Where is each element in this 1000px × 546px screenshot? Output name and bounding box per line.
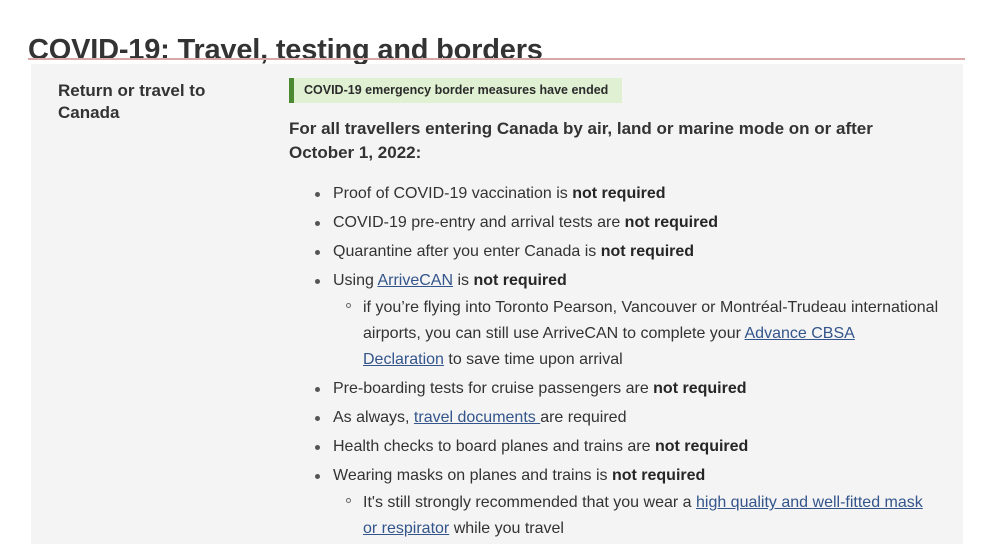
body-text: are required	[540, 409, 626, 426]
page-title: COVID-19: Travel, testing and borders	[28, 35, 543, 67]
list-item-text: Quarantine after you enter Canada is not…	[333, 240, 939, 265]
content-column: COVID-19 emergency border measures have …	[289, 78, 939, 546]
list-item: As always, travel documents are required	[333, 406, 939, 431]
list-item-text: COVID-19 pre-entry and arrival tests are…	[333, 211, 939, 236]
body-text: Wearing masks on planes and trains is	[333, 467, 612, 484]
page-root: COVID-19: Travel, testing and borders Re…	[0, 0, 1000, 544]
inline-link[interactable]: travel documents	[414, 409, 540, 426]
body-text: Quarantine after you enter Canada is	[333, 243, 601, 260]
requirements-list: Proof of COVID-19 vaccination is not req…	[289, 182, 939, 542]
emphasis-text: not required	[473, 272, 566, 289]
inline-link[interactable]: ArriveCAN	[377, 272, 453, 289]
body-text: COVID-19 pre-entry and arrival tests are	[333, 214, 625, 231]
sub-list-item: It's still strongly recommended that you…	[363, 490, 939, 542]
lead-paragraph: For all travellers entering Canada by ai…	[289, 117, 939, 165]
status-banner: COVID-19 emergency border measures have …	[289, 78, 622, 103]
list-item: Proof of COVID-19 vaccination is not req…	[333, 182, 939, 207]
emphasis-text: not required	[653, 380, 746, 397]
emphasis-text: not required	[572, 185, 665, 202]
list-item: Wearing masks on planes and trains is no…	[333, 464, 939, 543]
sub-list-item-text: if you’re flying into Toronto Pearson, V…	[363, 295, 939, 373]
list-item-text: Pre-boarding tests for cruise passengers…	[333, 377, 939, 402]
body-text: Proof of COVID-19 vaccination is	[333, 185, 572, 202]
body-text: while you travel	[449, 520, 564, 537]
sub-list-item-text: It's still strongly recommended that you…	[363, 490, 939, 542]
body-text: to save time upon arrival	[444, 351, 623, 368]
emphasis-text: not required	[625, 214, 718, 231]
list-item: COVID-19 pre-entry and arrival tests are…	[333, 211, 939, 236]
sub-list: if you’re flying into Toronto Pearson, V…	[333, 295, 939, 373]
body-text: Health checks to board planes and trains…	[333, 438, 655, 455]
sub-list-item: if you’re flying into Toronto Pearson, V…	[363, 295, 939, 373]
list-item-text: Proof of COVID-19 vaccination is not req…	[333, 182, 939, 207]
list-item-text: Wearing masks on planes and trains is no…	[333, 464, 939, 489]
list-item: Using ArriveCAN is not requiredif you’re…	[333, 269, 939, 374]
section-label: Return or travel to Canada	[58, 80, 268, 124]
emphasis-text: not required	[655, 438, 748, 455]
list-item-text: Health checks to board planes and trains…	[333, 435, 939, 460]
body-text: It's still strongly recommended that you…	[363, 494, 696, 511]
body-text: Using	[333, 272, 377, 289]
body-text: is	[453, 272, 473, 289]
list-item: Health checks to board planes and trains…	[333, 435, 939, 460]
list-item-text: Using ArriveCAN is not required	[333, 269, 939, 294]
sub-list: It's still strongly recommended that you…	[333, 490, 939, 542]
list-item: Quarantine after you enter Canada is not…	[333, 240, 939, 265]
emphasis-text: not required	[612, 467, 705, 484]
list-item: Pre-boarding tests for cruise passengers…	[333, 377, 939, 402]
list-item-text: As always, travel documents are required	[333, 406, 939, 431]
emphasis-text: not required	[601, 243, 694, 260]
body-text: Pre-boarding tests for cruise passengers…	[333, 380, 653, 397]
title-divider	[28, 58, 965, 60]
content-panel: Return or travel to Canada COVID-19 emer…	[31, 64, 963, 544]
body-text: As always,	[333, 409, 414, 426]
